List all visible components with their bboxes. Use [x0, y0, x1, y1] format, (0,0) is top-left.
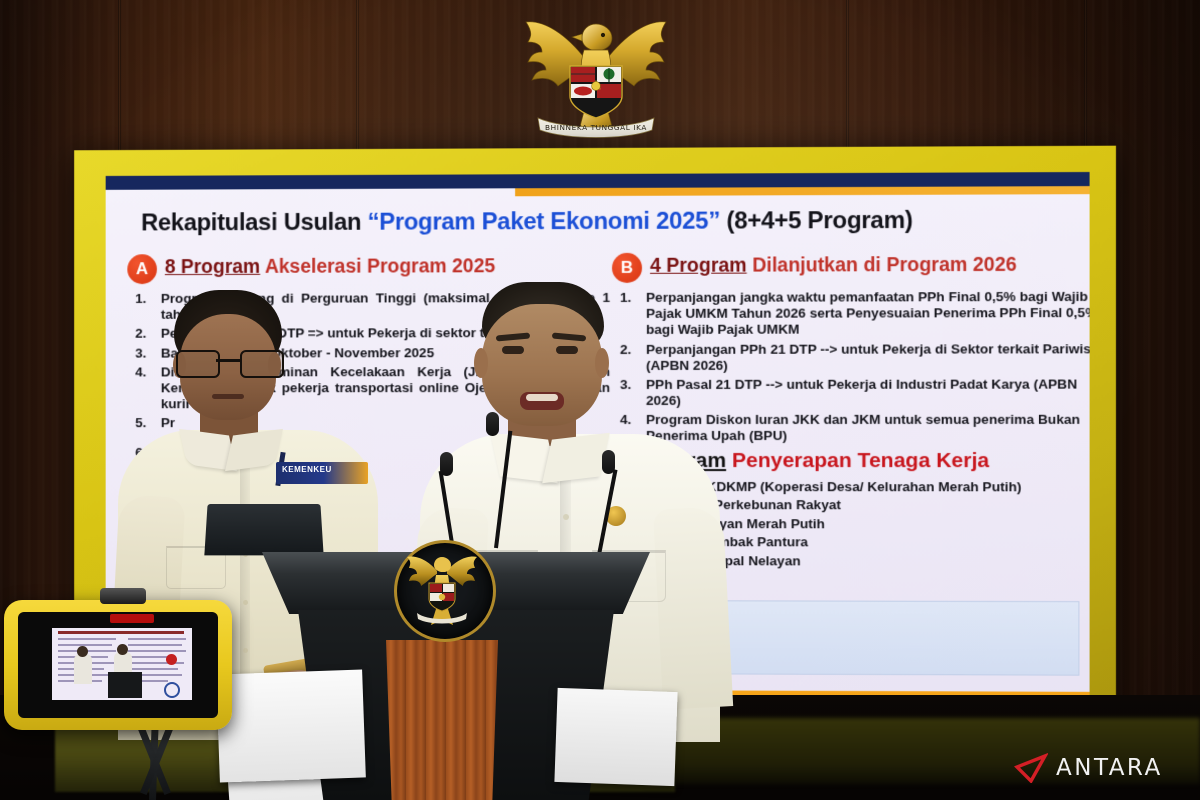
section-a-title-rest: Akselerasi Program 2025 [265, 255, 495, 278]
mouth [212, 394, 244, 399]
podium-wood-panel [386, 640, 498, 800]
section-a-title: 8 Program Akselerasi Program 2025 [165, 255, 495, 279]
right-speaker-arm [653, 506, 733, 709]
section-b-title-rest: Dilanjutkan di Program 2026 [752, 254, 1017, 277]
ear [595, 348, 609, 378]
preview-person-head [77, 646, 88, 657]
lens [240, 350, 284, 378]
smartphone-recording[interactable] [4, 600, 232, 730]
kemenkeu-badge: KEMENKEU [276, 462, 368, 484]
phone-screen[interactable] [18, 612, 218, 718]
section-a-badge: A [127, 254, 157, 284]
antara-brand-text: ANTARA [1056, 755, 1163, 781]
garuda-pancasila-emblem: BHINNEKA TUNGGAL IKA [508, 8, 684, 140]
screenshot-root: BHINNEKA TUNGGAL IKA Rekapitulasi Usulan… [0, 0, 1200, 800]
slide-title-highlight: “Program Paket Ekonomi 2025” [368, 208, 720, 236]
kemenkeu-badge-text: KEMENKEU [282, 465, 332, 474]
shirt-button [243, 648, 248, 653]
slide-title-tail: (8+4+5 Program) [720, 207, 913, 235]
preview-slide-title [58, 631, 184, 634]
section-c-title-rest: Penyerapan Tenaga Kerja [732, 449, 989, 472]
preview-person-left [74, 654, 92, 684]
ear [474, 348, 488, 378]
section-b-heading: B 4 Program Dilanjutkan di Program 2026 [612, 253, 1090, 284]
preview-logo-icon [164, 682, 180, 698]
slide-header-accent [515, 186, 1089, 196]
preview-badge-icon [166, 654, 177, 665]
antara-watermark: ANTARA [1014, 750, 1184, 786]
laptop-on-podium [204, 504, 323, 555]
record-indicator [110, 614, 154, 623]
paper-sheet-left [216, 669, 366, 782]
shirt-collar-right [542, 433, 610, 483]
phone-preview-slide [52, 628, 192, 700]
eye [556, 346, 578, 354]
svg-text:BHINNEKA TUNGGAL IKA: BHINNEKA TUNGGAL IKA [545, 123, 647, 132]
section-b-badge: B [612, 253, 642, 283]
phone-clamp [100, 588, 146, 604]
slide-title: Rekapitulasi Usulan “Program Paket Ekono… [141, 206, 1069, 237]
antara-mark-icon [1014, 753, 1048, 783]
lens [176, 350, 220, 378]
section-a-heading: A 8 Program Akselerasi Program 2025 [127, 254, 614, 285]
glasses-bridge [216, 359, 240, 362]
slide-title-lead: Rekapitulasi Usulan [141, 209, 367, 237]
eye [502, 346, 524, 354]
section-b-title-underline: 4 Program [650, 255, 747, 277]
mouth-open-speaking [520, 392, 564, 410]
shirt-button [563, 514, 569, 520]
preview-podium [108, 672, 142, 698]
shirt-button [243, 600, 248, 605]
section-b-title: 4 Program Dilanjutkan di Program 2026 [650, 254, 1017, 278]
paper-sheet-right [554, 688, 677, 786]
garuda-pancasila-seal [394, 540, 496, 642]
preview-person-head [117, 644, 128, 655]
section-a-title-underline: 8 Program [165, 256, 260, 278]
eyeglasses [176, 350, 280, 374]
